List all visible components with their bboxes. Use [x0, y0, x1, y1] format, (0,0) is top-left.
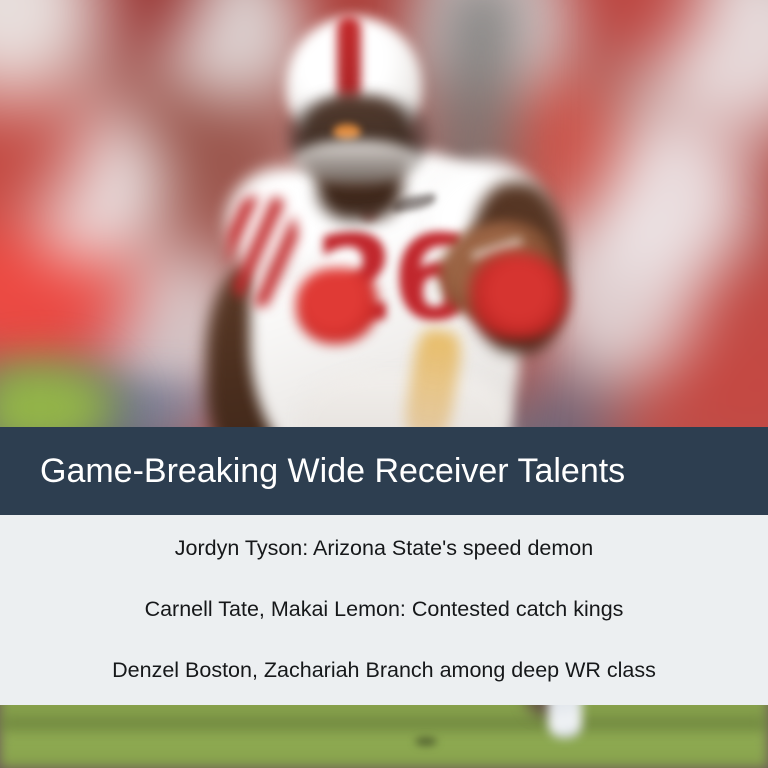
player-right-glove	[470, 252, 568, 340]
bullet-panel: Jordyn Tyson: Arizona State's speed demo…	[0, 515, 768, 705]
bullet-line-1: Jordyn Tyson: Arizona State's speed demo…	[175, 536, 593, 562]
player-chinstrap	[292, 140, 420, 184]
player-left-glove	[296, 268, 378, 344]
sports-graphic-card: 26 Game-Breaking Wide Receiver Talents J…	[0, 0, 768, 768]
bullet-line-3: Denzel Boston, Zachariah Branch among de…	[112, 658, 656, 684]
headline-bar: Game-Breaking Wide Receiver Talents	[0, 427, 768, 515]
headline-text: Game-Breaking Wide Receiver Talents	[0, 452, 625, 491]
jersey-sleeve-stripes	[228, 196, 298, 306]
player-mouthguard	[333, 124, 361, 140]
bullet-line-2: Carnell Tate, Makai Lemon: Contested cat…	[145, 597, 624, 623]
